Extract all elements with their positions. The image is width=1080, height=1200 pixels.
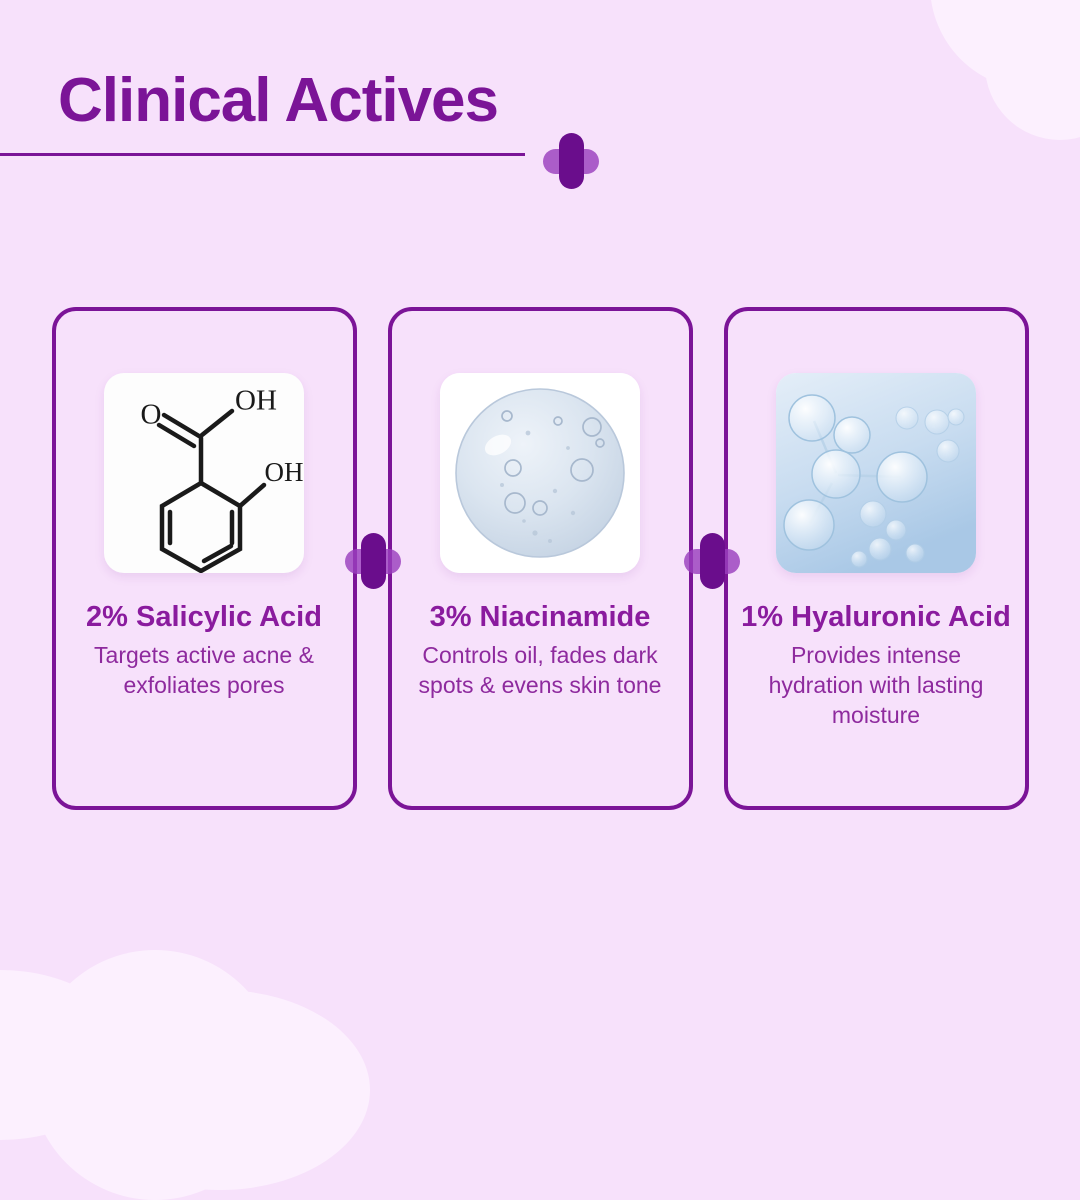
svg-text:OH: OH [235, 385, 277, 417]
plus-icon-vertical-bar [559, 133, 584, 189]
card-title: 3% Niacinamide [420, 600, 661, 635]
card-description: Targets active acne & exfoliates pores [56, 641, 353, 701]
svg-text:O: O [141, 399, 162, 431]
card-title: 1% Hyaluronic Acid [731, 600, 1021, 635]
active-card-hyaluronic-acid[interactable]: 1% Hyaluronic Acid Provides intense hydr… [724, 307, 1029, 810]
hyaluronic-acid-water-bubbles-photo [776, 373, 976, 573]
salicylic-acid-molecule-diagram: O OH OH [104, 373, 304, 573]
plus-icon-vertical-bar [361, 533, 386, 589]
plus-icon [345, 533, 401, 589]
actives-card-list: O OH OH 2% Salicylic Acid Targets active… [0, 307, 1080, 810]
page-title: Clinical Actives [0, 70, 1080, 132]
niacinamide-gel-droplet-photo [440, 373, 640, 573]
card-description: Controls oil, fades dark spots & evens s… [392, 641, 689, 701]
title-underline [0, 153, 525, 156]
card-description: Provides intense hydration with lasting … [728, 641, 1025, 731]
card-title: 2% Salicylic Acid [76, 600, 332, 635]
plus-icon [684, 533, 740, 589]
plus-icon [543, 133, 599, 189]
active-card-salicylic-acid[interactable]: O OH OH 2% Salicylic Acid Targets active… [52, 307, 357, 810]
corner-blob-bottom-left-3 [70, 990, 370, 1190]
active-card-niacinamide[interactable]: 3% Niacinamide Controls oil, fades dark … [388, 307, 693, 810]
svg-text:OH: OH [265, 457, 304, 487]
header: Clinical Actives [0, 70, 1080, 156]
plus-icon-vertical-bar [700, 533, 725, 589]
